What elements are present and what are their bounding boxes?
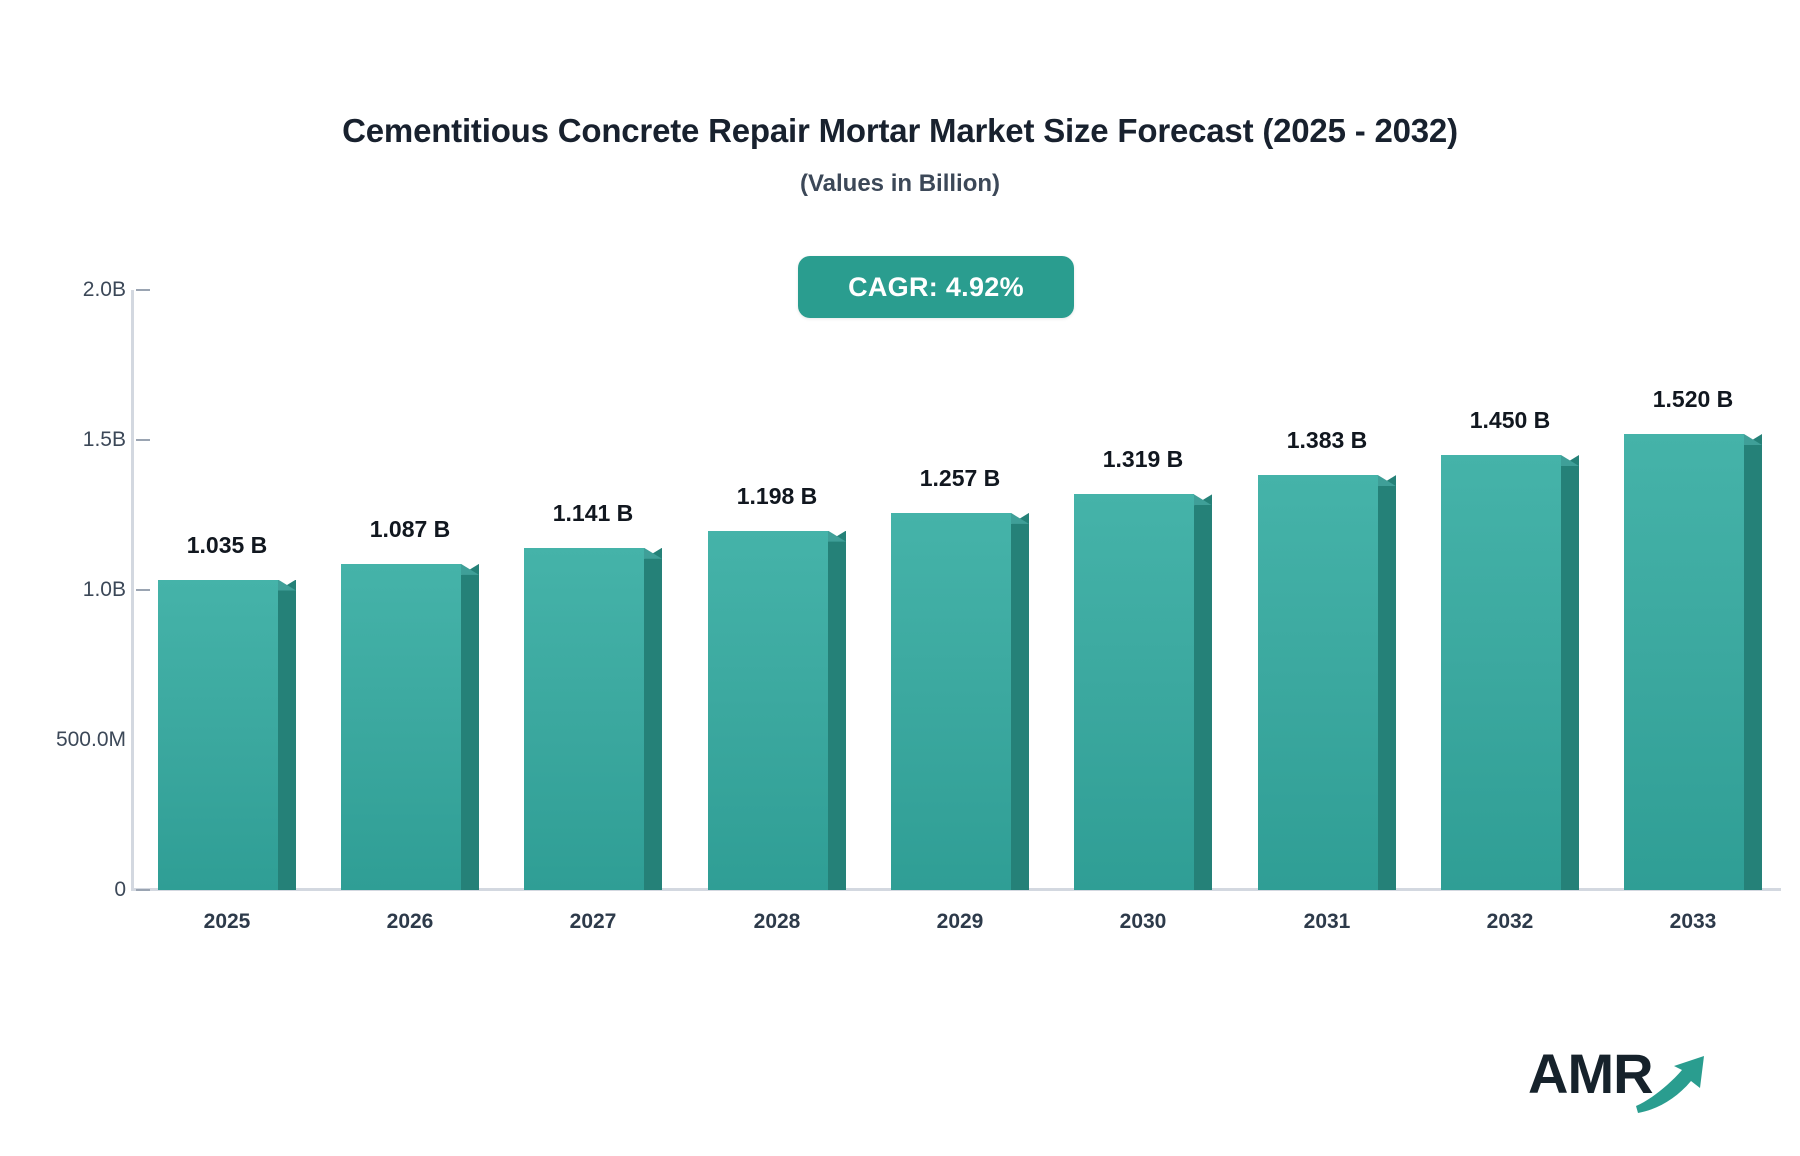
growth-arrow-icon — [1528, 1042, 1728, 1120]
amr-logo: AMR — [1528, 1042, 1728, 1120]
x-axis-label: 2032 — [1410, 910, 1610, 934]
bar-front-face — [1074, 494, 1194, 890]
y-tick-label: 500.0M — [56, 727, 126, 753]
bar[interactable] — [708, 531, 828, 890]
x-axis-label: 2031 — [1227, 910, 1427, 934]
bar[interactable] — [1258, 475, 1378, 890]
bar[interactable] — [891, 513, 1011, 890]
y-tick-label: 1.0B — [83, 577, 126, 603]
y-tick: 1.0B — [0, 577, 150, 603]
bar-side-face — [461, 564, 479, 890]
bar-side-face — [1378, 475, 1396, 890]
bar-front-face — [524, 548, 644, 890]
bar[interactable] — [341, 564, 461, 890]
bar-front-face — [158, 580, 278, 891]
bar[interactable] — [524, 548, 644, 890]
x-axis-label: 2027 — [493, 910, 693, 934]
x-axis-label: 2025 — [127, 910, 327, 934]
bar-front-face — [1441, 455, 1561, 890]
bar-side-face — [1011, 513, 1029, 890]
y-tick: 1.5B — [0, 427, 150, 453]
bar-front-face — [891, 513, 1011, 890]
plot-area: 2.0B1.5B1.0B500.0M0 1.035 B1.087 B1.141 … — [0, 0, 1800, 1156]
bar-side-face — [644, 548, 662, 890]
y-tick-mark — [136, 289, 150, 291]
bar-side-face — [278, 580, 296, 891]
bar-value-label: 1.520 B — [1563, 386, 1800, 413]
x-axis-label: 2030 — [1043, 910, 1243, 934]
bar-side-face — [828, 531, 846, 890]
bar-side-face — [1561, 455, 1579, 890]
x-axis-label: 2029 — [860, 910, 1060, 934]
bar-front-face — [341, 564, 461, 890]
bar-front-face — [1258, 475, 1378, 890]
bar[interactable] — [1624, 434, 1744, 890]
y-tick-mark — [136, 589, 150, 591]
x-axis-label: 2028 — [677, 910, 877, 934]
x-axis-label: 2026 — [310, 910, 510, 934]
y-tick-label: 1.5B — [83, 427, 126, 453]
y-tick: 500.0M — [0, 727, 150, 753]
y-tick-mark — [136, 439, 150, 441]
bar-side-face — [1194, 494, 1212, 890]
bar-front-face — [708, 531, 828, 890]
bar[interactable] — [1441, 455, 1561, 890]
y-tick-mark — [136, 889, 150, 891]
y-tick-label: 2.0B — [83, 277, 126, 303]
x-axis-label: 2033 — [1593, 910, 1793, 934]
y-tick-label: 0 — [114, 877, 126, 903]
chart-canvas: Cementitious Concrete Repair Mortar Mark… — [0, 0, 1800, 1156]
bar-front-face — [1624, 434, 1744, 890]
bar-side-face — [1744, 434, 1762, 890]
bar[interactable] — [158, 580, 278, 891]
y-tick: 0 — [0, 877, 150, 903]
bar[interactable] — [1074, 494, 1194, 890]
y-tick: 2.0B — [0, 277, 150, 303]
